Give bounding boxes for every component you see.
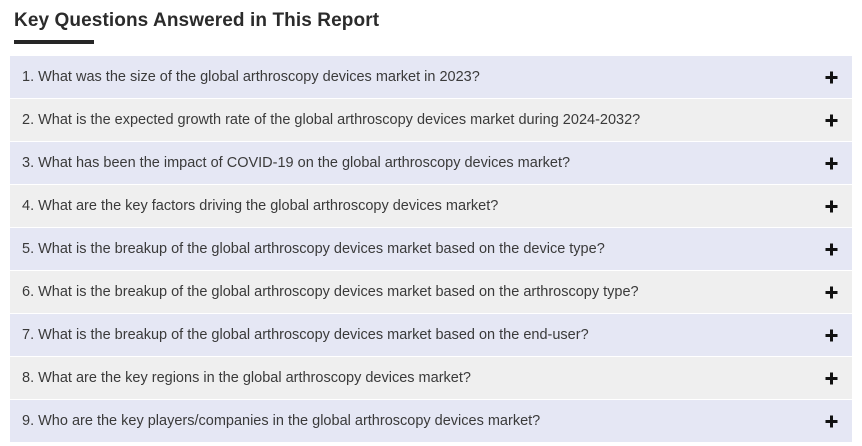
faq-item-2[interactable]: 2. What is the expected growth rate of t… <box>10 99 852 141</box>
faq-question-text: 5. What is the breakup of the global art… <box>22 239 820 259</box>
faq-question-text: 2. What is the expected growth rate of t… <box>22 110 820 130</box>
faq-question-text: 9. Who are the key players/companies in … <box>22 411 820 431</box>
page-heading: Key Questions Answered in This Report <box>14 8 379 44</box>
plus-icon[interactable] <box>820 286 842 299</box>
faq-item-6[interactable]: 6. What is the breakup of the global art… <box>10 271 852 313</box>
faq-question-text: 6. What is the breakup of the global art… <box>22 282 820 302</box>
faq-accordion-list: 1. What was the size of the global arthr… <box>10 56 852 443</box>
plus-icon[interactable] <box>820 114 842 127</box>
faq-item-9[interactable]: 9. Who are the key players/companies in … <box>10 400 852 442</box>
faq-item-4[interactable]: 4. What are the key factors driving the … <box>10 185 852 227</box>
faq-item-5[interactable]: 5. What is the breakup of the global art… <box>10 228 852 270</box>
plus-icon[interactable] <box>820 200 842 213</box>
plus-icon[interactable] <box>820 243 842 256</box>
faq-item-7[interactable]: 7. What is the breakup of the global art… <box>10 314 852 356</box>
plus-icon[interactable] <box>820 71 842 84</box>
faq-question-text: 4. What are the key factors driving the … <box>22 196 820 216</box>
plus-icon[interactable] <box>820 329 842 342</box>
page-title: Key Questions Answered in This Report <box>14 8 379 34</box>
faq-page: Key Questions Answered in This Report 1.… <box>0 0 862 446</box>
faq-question-text: 8. What are the key regions in the globa… <box>22 368 820 388</box>
plus-icon[interactable] <box>820 415 842 428</box>
faq-item-1[interactable]: 1. What was the size of the global arthr… <box>10 56 852 98</box>
faq-item-3[interactable]: 3. What has been the impact of COVID-19 … <box>10 142 852 184</box>
plus-icon[interactable] <box>820 157 842 170</box>
faq-item-8[interactable]: 8. What are the key regions in the globa… <box>10 357 852 399</box>
title-underline-accent <box>14 40 94 44</box>
faq-question-text: 1. What was the size of the global arthr… <box>22 67 820 87</box>
faq-question-text: 3. What has been the impact of COVID-19 … <box>22 153 820 173</box>
plus-icon[interactable] <box>820 372 842 385</box>
faq-question-text: 7. What is the breakup of the global art… <box>22 325 820 345</box>
